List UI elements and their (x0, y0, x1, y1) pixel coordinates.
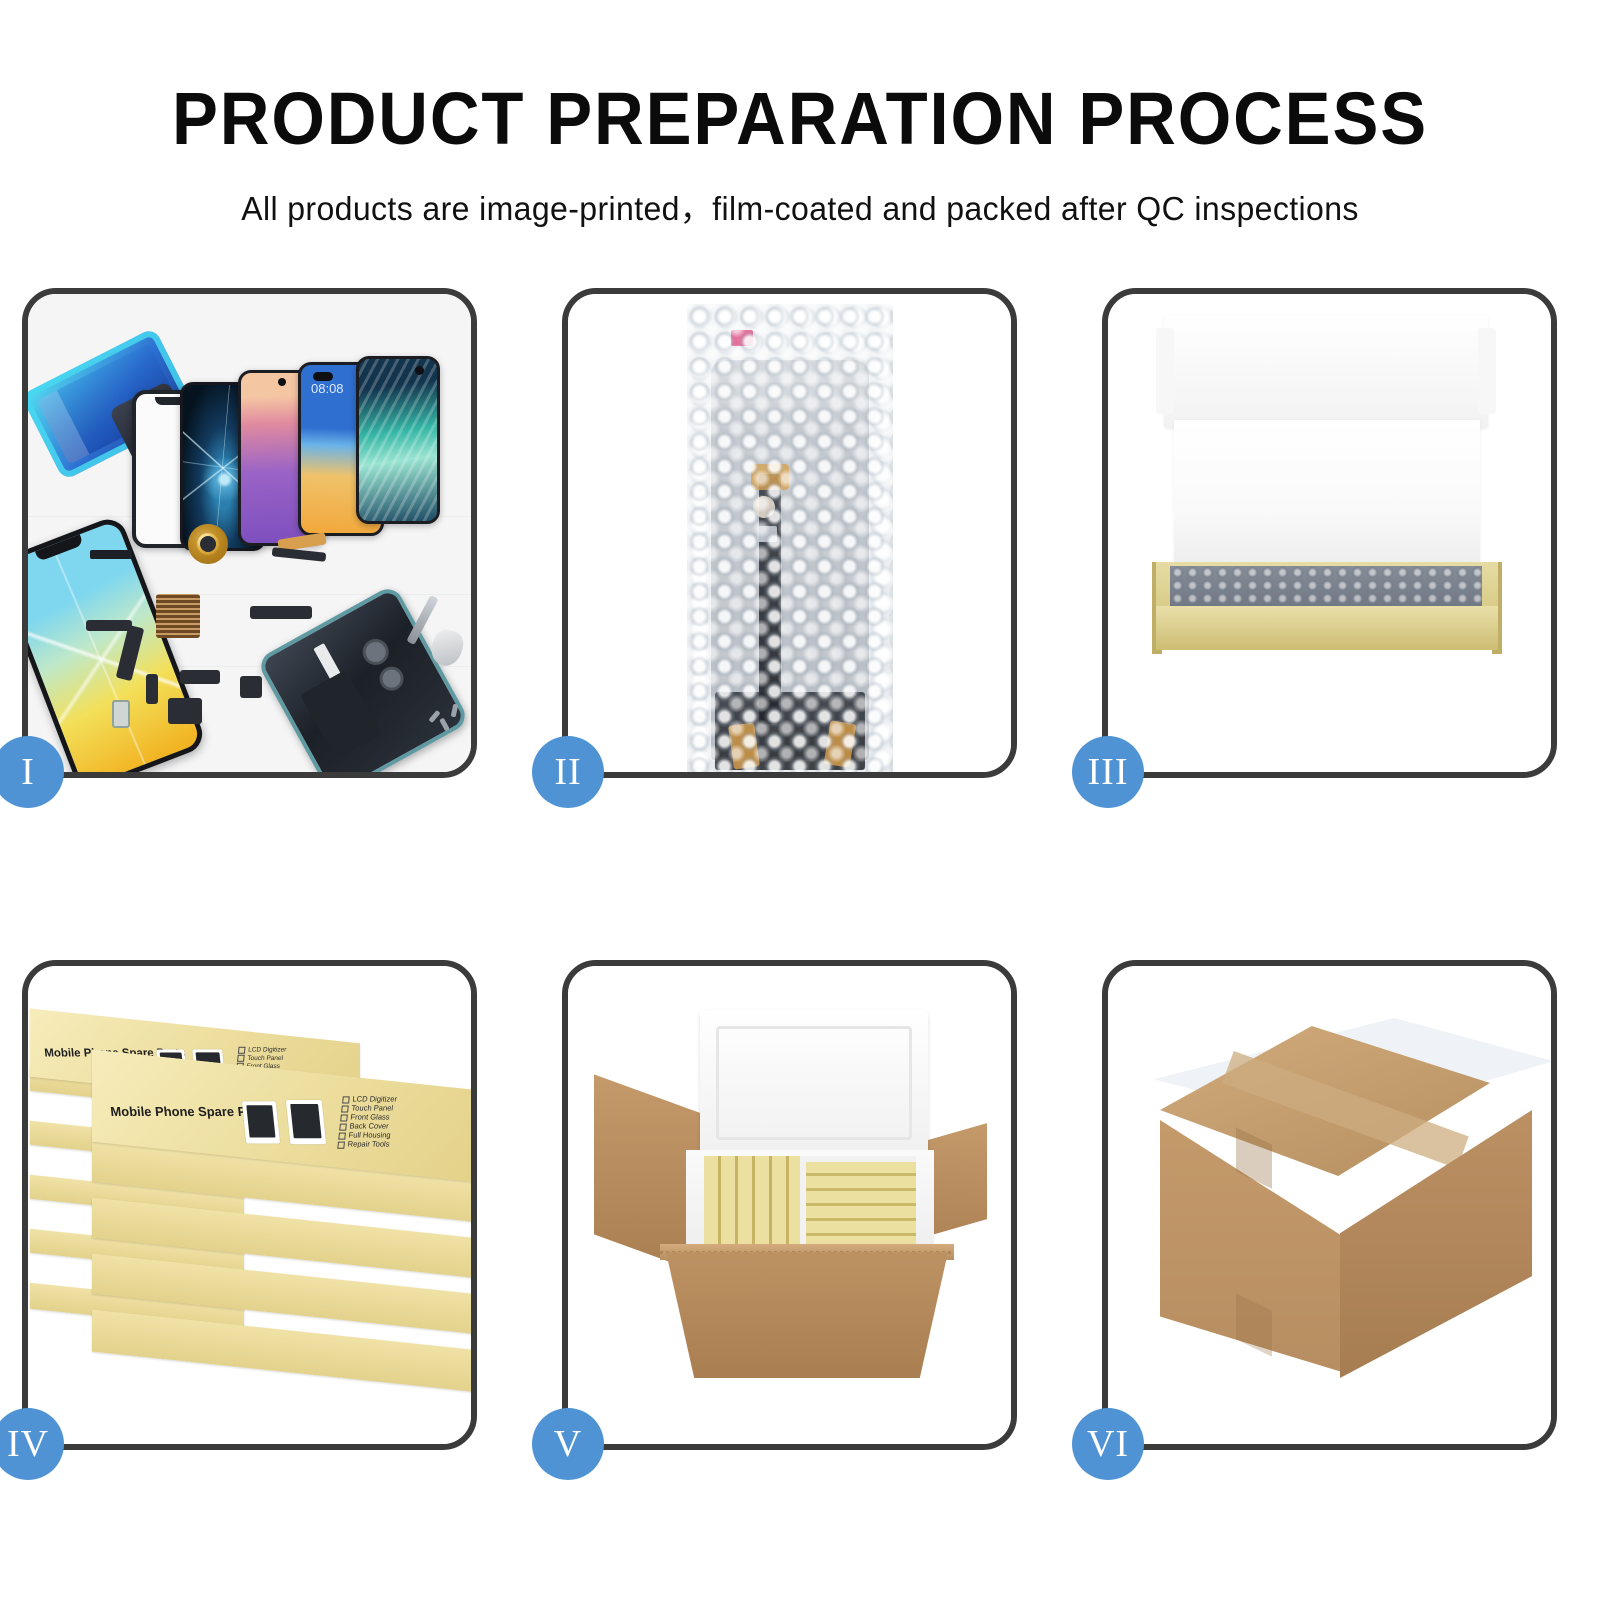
camera-lens-icon (358, 634, 393, 669)
step-3-image (1108, 294, 1551, 772)
process-step-2[interactable]: II (562, 288, 1017, 778)
vibration-motor-icon (180, 670, 220, 684)
step-4-image: Mobile Phone Spare Parts LCD Digitizer T… (28, 966, 471, 1444)
bubble-wrap-texture (687, 304, 893, 772)
flex-cable-icon (86, 620, 132, 631)
camera-punch-hole-icon (278, 378, 286, 386)
checklist-item: Back Cover (339, 1122, 394, 1131)
checklist-item: Full Housing (338, 1131, 393, 1140)
process-step-5[interactable]: V (562, 960, 1017, 1450)
bubble-foam-insert (1170, 566, 1482, 608)
process-step-1[interactable]: 08:08 (22, 288, 477, 778)
box-lid-back (1164, 316, 1488, 428)
page-subtitle: All products are image-printed，film-coat… (24, 182, 1576, 230)
process-step-6[interactable]: VI (1102, 960, 1557, 1450)
earpiece-module-icon (240, 676, 262, 698)
display-fan: 08:08 (120, 356, 440, 546)
box-lid-front (1174, 420, 1480, 568)
process-step-grid: 08:08 (0, 288, 1600, 1468)
pill-punch-hole-icon (313, 372, 333, 381)
bracket-icon (146, 674, 158, 704)
checklist-item: Touch Panel (341, 1103, 396, 1112)
checklist-item: LCD Digitizer (342, 1094, 397, 1103)
camera-lens-icon (375, 662, 408, 695)
checklist-item: Repair Tools (337, 1140, 392, 1149)
step-badge-5: V (532, 1408, 604, 1480)
foam-cooler-lid (700, 1010, 928, 1156)
speaker-module-icon (90, 550, 132, 559)
battery-compartment (300, 670, 381, 760)
gold-box-group-right (806, 1162, 916, 1248)
carton-front-panel (666, 1252, 948, 1378)
process-step-3[interactable]: III (1102, 288, 1557, 778)
gold-box-front (1156, 606, 1498, 650)
camera-punch-hole-icon (415, 366, 424, 375)
wireless-charging-coil-icon (188, 524, 228, 564)
box-artwork-phone (242, 1101, 280, 1143)
page-header: PRODUCT PREPARATION PROCESS All products… (0, 0, 1600, 230)
bubble-wrap-package (687, 304, 893, 772)
step-badge-4: IV (0, 1408, 64, 1480)
checklist-item: Touch Panel (237, 1055, 286, 1063)
sim-tray-icon (112, 700, 130, 728)
flex-cable-icon (250, 606, 312, 619)
step-badge-3: III (1072, 736, 1144, 808)
lockscreen-clock: 08:08 (311, 381, 344, 396)
teal-display-panel (356, 356, 440, 524)
checklist-item: LCD Digitizer (238, 1047, 287, 1055)
process-step-4[interactable]: Mobile Phone Spare Parts LCD Digitizer T… (22, 960, 477, 1450)
foam-cooler-contents (704, 1156, 916, 1248)
ic-chip-icon (156, 594, 200, 638)
step-badge-6: VI (1072, 1408, 1144, 1480)
page-title: PRODUCT PREPARATION PROCESS (56, 82, 1544, 156)
loudspeaker-icon (168, 698, 202, 724)
step-1-image: 08:08 (28, 294, 471, 772)
step-badge-1: I (0, 736, 64, 808)
parts-collage-scene: 08:08 (28, 294, 471, 772)
retail-box-checklist: LCD Digitizer Touch Panel Front Glass Ba… (337, 1094, 397, 1148)
step-2-image (568, 294, 1011, 772)
step-badge-2: II (532, 736, 604, 808)
step-6-image (1108, 966, 1551, 1444)
retail-box-stack: Mobile Phone Spare Parts LCD Digitizer T… (28, 966, 471, 1444)
box-artwork-phone (286, 1100, 326, 1144)
step-5-image (568, 966, 1011, 1444)
gold-box-group-left (704, 1156, 800, 1248)
checklist-item: Front Glass (340, 1113, 395, 1122)
